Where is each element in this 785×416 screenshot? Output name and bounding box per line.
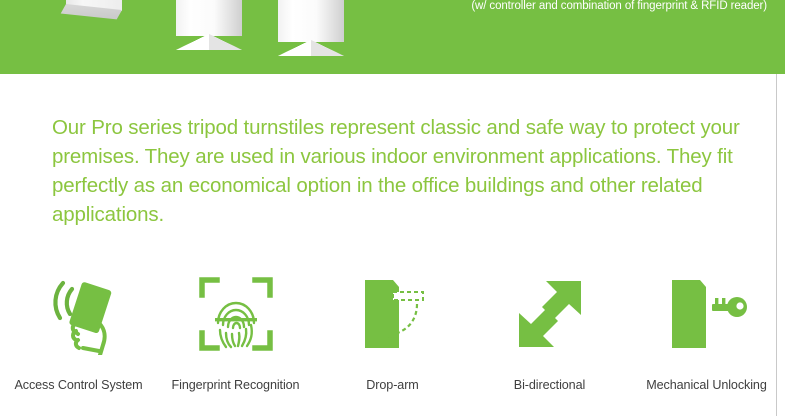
feature-fingerprint: Fingerprint Recognition — [157, 272, 314, 392]
drop-arm-icon — [353, 272, 433, 356]
feature-bi-directional: Bi-directional — [471, 272, 628, 392]
product-info-page: (w/ controller and combination of finger… — [0, 0, 785, 416]
feature-access-control: Access Control System — [0, 272, 157, 392]
hero-banner: (w/ controller and combination of finger… — [0, 0, 785, 74]
turnstile-pedestal-right-image — [278, 0, 344, 42]
bi-directional-arrows-icon — [511, 272, 589, 356]
feature-label: Bi-directional — [514, 378, 585, 392]
intro-paragraph: Our Pro series tripod turnstiles represe… — [52, 113, 742, 229]
feature-mechanical-unlocking: Mechanical Unlocking — [628, 272, 785, 392]
hero-caption: (w/ controller and combination of finger… — [471, 0, 767, 14]
turnstile-pedestal-left-image — [176, 0, 242, 36]
feature-label: Mechanical Unlocking — [646, 378, 767, 392]
mechanical-key-unlock-icon — [664, 272, 750, 356]
feature-label: Drop-arm — [366, 378, 418, 392]
feature-list: Access Control System — [0, 272, 785, 392]
feature-drop-arm: Drop-arm — [314, 272, 471, 392]
right-edge-divider — [776, 74, 777, 416]
feature-label: Access Control System — [14, 378, 142, 392]
access-card-reader-icon — [41, 272, 117, 356]
feature-label: Fingerprint Recognition — [172, 378, 300, 392]
turnstile-cabinet-image — [66, 0, 122, 11]
fingerprint-scan-icon — [198, 272, 274, 356]
